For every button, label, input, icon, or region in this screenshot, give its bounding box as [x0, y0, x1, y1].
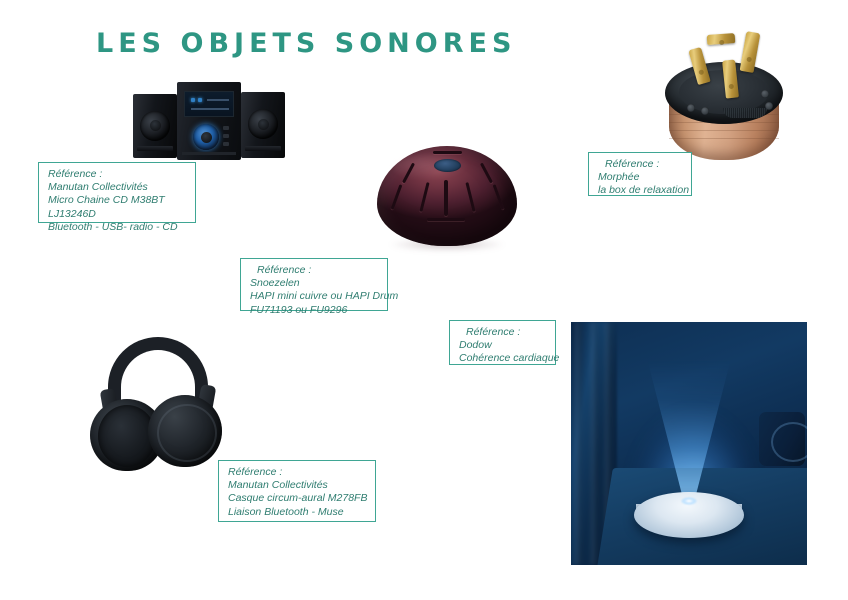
morphee-key-back [707, 33, 736, 45]
reference-line: Casque circum-aural M278FB [228, 492, 368, 505]
reference-line: la box de relaxation [598, 184, 684, 197]
hapi-logo-icon [434, 159, 461, 172]
product-image-dodow [571, 322, 807, 565]
morphee-speaker-grille [723, 108, 767, 118]
morphee-button-icon [761, 90, 769, 98]
reference-heading: Référence : [250, 264, 380, 277]
volume-dial [193, 124, 219, 150]
reference-line: Manutan Collectivités [48, 181, 188, 194]
dodow-led-icon [681, 497, 697, 505]
reference-line: Snoezelen [250, 277, 380, 290]
reference-heading: Référence : [598, 158, 684, 171]
hapi-drum-body [377, 146, 517, 246]
reference-line: FU71193 ou FU9296 [250, 304, 380, 317]
product-image-casque [88, 333, 228, 478]
reference-box-dodow: Référence : Dodow Cohérence cardiaque [449, 320, 556, 365]
reference-heading: Référence : [48, 168, 188, 181]
product-image-micro-chaine [133, 82, 285, 160]
reference-line: Dodow [459, 339, 548, 352]
reference-line: Manutan Collectivités [228, 479, 368, 492]
headphone-earpad [98, 405, 156, 467]
speaker-badge [245, 146, 280, 151]
cd-tray [182, 152, 236, 155]
morphee-button-icon [701, 107, 709, 115]
stereo-main-unit [177, 82, 241, 160]
clock-face [771, 422, 807, 462]
reference-box-morphee: Référence : Morphée la box de relaxation [588, 152, 692, 196]
speaker-left [133, 94, 177, 158]
speaker-right [241, 92, 285, 158]
reference-box-micro-chaine: Référence : Manutan Collectivités Micro … [38, 162, 196, 223]
reference-box-casque: Référence : Manutan Collectivités Casque… [218, 460, 376, 522]
reference-line: Morphée [598, 171, 684, 184]
reference-line: Bluetooth - USB- radio - CD [48, 221, 188, 234]
reference-line: Liaison Bluetooth - Muse [228, 506, 368, 519]
reference-heading: Référence : [228, 466, 368, 479]
stereo-display [184, 91, 234, 117]
product-image-hapi-drum [377, 146, 517, 251]
reference-line: HAPI mini cuivre ou HAPI Drum [250, 290, 380, 303]
reference-box-hapi-drum: Référence : Snoezelen HAPI mini cuivre o… [240, 258, 388, 311]
speaker-cone-icon [248, 109, 278, 139]
speaker-cone-icon [140, 111, 170, 141]
reference-line: Micro Chaine CD M38BT [48, 194, 188, 207]
product-image-morphee [663, 22, 785, 160]
morphee-button-icon [687, 104, 695, 112]
reference-heading: Référence : [459, 326, 548, 339]
bedside-object [759, 412, 805, 466]
reference-line: LJ13246D [48, 208, 188, 221]
slide-canvas: LES OBJETS SONORES Référence : Manu [0, 0, 848, 600]
headphone-ring-detail [157, 404, 217, 462]
reference-line: Cohérence cardiaque [459, 352, 548, 365]
headphone-earcup-right [148, 395, 222, 467]
speaker-badge [137, 146, 172, 151]
page-title: LES OBJETS SONORES [96, 28, 516, 59]
